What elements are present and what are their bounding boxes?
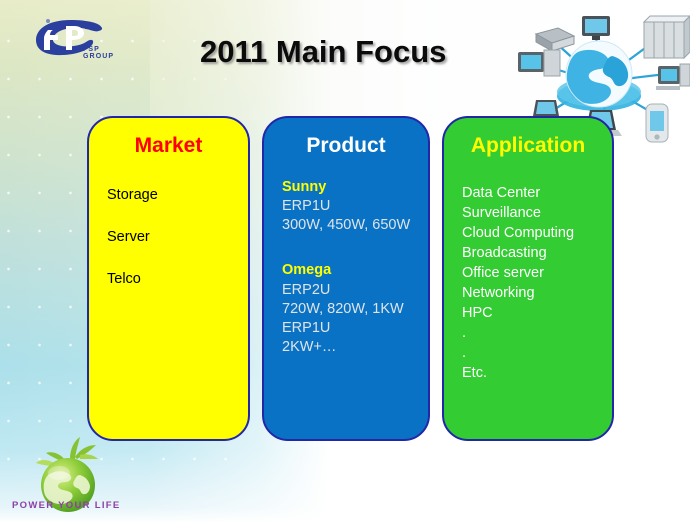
- product-group-sunny: Sunny ERP1U 300W, 450W, 650W: [282, 178, 428, 235]
- slide-canvas: FSP GROUP 2011 Main Focus: [0, 0, 690, 523]
- product-line: 720W, 820W, 1KW: [282, 300, 428, 319]
- application-box-body: Data Center Surveillance Cloud Computing…: [444, 183, 612, 383]
- list-item: Etc.: [462, 363, 612, 383]
- list-item: Cloud Computing: [462, 223, 612, 243]
- application-box[interactable]: Application Data Center Surveillance Clo…: [442, 116, 614, 441]
- list-item: .: [462, 343, 612, 363]
- product-box-body: Sunny ERP1U 300W, 450W, 650W Omega ERP2U…: [264, 178, 428, 357]
- product-group-heading: Omega: [282, 261, 428, 280]
- power-your-life-tagline: POWER YOUR LIFE: [12, 500, 121, 511]
- product-box[interactable]: Product Sunny ERP1U 300W, 450W, 650W Ome…: [262, 116, 430, 441]
- monitor-top: [582, 16, 610, 40]
- list-item: Broadcasting: [462, 243, 612, 263]
- printer: [536, 28, 574, 51]
- list-item: Surveillance: [462, 203, 612, 223]
- product-line: ERP1U: [282, 197, 428, 216]
- product-group-omega: Omega ERP2U 720W, 820W, 1KW ERP1U 2KW+…: [282, 261, 428, 357]
- server-rack: [644, 16, 690, 58]
- list-item: Server: [107, 229, 248, 245]
- list-item: Storage: [107, 187, 248, 203]
- list-item: Telco: [107, 271, 248, 287]
- product-box-title: Product: [264, 134, 428, 157]
- product-group-heading: Sunny: [282, 178, 428, 197]
- application-box-title: Application: [444, 134, 612, 157]
- smartphone: [646, 104, 668, 142]
- fsp-wordmark: FSP GROUP: [83, 46, 132, 60]
- desktop-computer-left: [518, 50, 560, 76]
- product-line: ERP1U: [282, 319, 428, 338]
- list-item: HPC: [462, 303, 612, 323]
- fsp-group-logo: FSP GROUP: [24, 10, 132, 62]
- product-line: 300W, 450W, 650W: [282, 216, 428, 235]
- page-title: 2011 Main Focus: [200, 34, 446, 70]
- list-item: .: [462, 323, 612, 343]
- product-line: ERP2U: [282, 281, 428, 300]
- market-box-body: Storage Server Telco: [89, 187, 248, 287]
- desktop-computer-right: [656, 64, 690, 90]
- market-box-title: Market: [89, 134, 248, 157]
- logo-registered-dot: [46, 19, 50, 23]
- product-line: 2KW+…: [282, 338, 428, 357]
- list-item: Office server: [462, 263, 612, 283]
- list-item: Data Center: [462, 183, 612, 203]
- list-item: Networking: [462, 283, 612, 303]
- market-box[interactable]: Market Storage Server Telco: [87, 116, 250, 441]
